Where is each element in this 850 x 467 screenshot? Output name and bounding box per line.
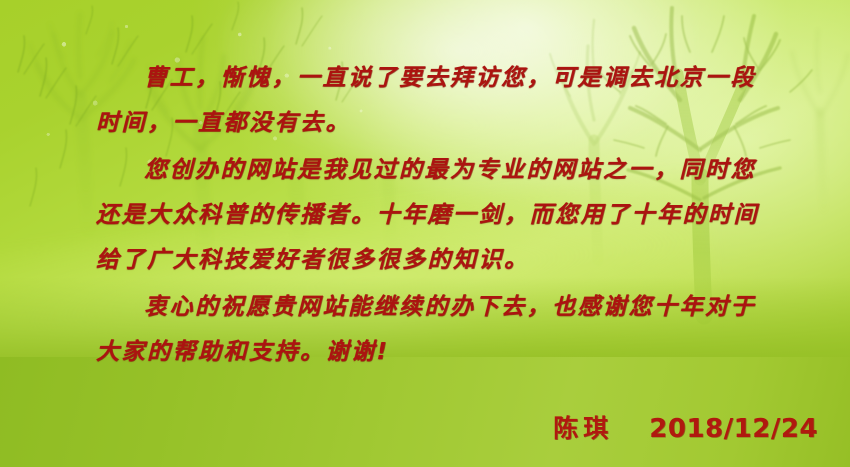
- paragraph-1: 曹工，惭愧，一直说了要去拜访您，可是调去北京一段 时间，一直都没有去。: [96, 56, 806, 146]
- letter-line: 曹工，惭愧，一直说了要去拜访您，可是调去北京一段: [96, 56, 806, 101]
- signature-name: 陈琪: [553, 409, 613, 445]
- signature-date: 2018/12/24: [649, 414, 818, 444]
- letter-line: 大家的帮助和支持。谢谢!: [96, 330, 806, 375]
- greeting-card: 曹工，惭愧，一直说了要去拜访您，可是调去北京一段 时间，一直都没有去。 您创办的…: [0, 0, 850, 467]
- letter-line: 时间，一直都没有去。: [96, 101, 806, 146]
- letter-line: 给了广大科技爱好者很多很多的知识。: [96, 238, 806, 283]
- signature-row: 陈琪 2018/12/24: [553, 409, 818, 445]
- paragraph-3: 衷心的祝愿贵网站能继续的办下去，也感谢您十年对于 大家的帮助和支持。谢谢!: [96, 285, 806, 375]
- letter-line: 还是大众科普的传播者。十年磨一剑，而您用了十年的时间: [96, 193, 806, 238]
- letter-line: 衷心的祝愿贵网站能继续的办下去，也感谢您十年对于: [96, 285, 806, 330]
- letter-body: 曹工，惭愧，一直说了要去拜访您，可是调去北京一段 时间，一直都没有去。 您创办的…: [0, 56, 850, 377]
- letter-line: 您创办的网站是我见过的最为专业的网站之一，同时您: [96, 148, 806, 193]
- paragraph-2: 您创办的网站是我见过的最为专业的网站之一，同时您 还是大众科普的传播者。十年磨一…: [96, 148, 806, 283]
